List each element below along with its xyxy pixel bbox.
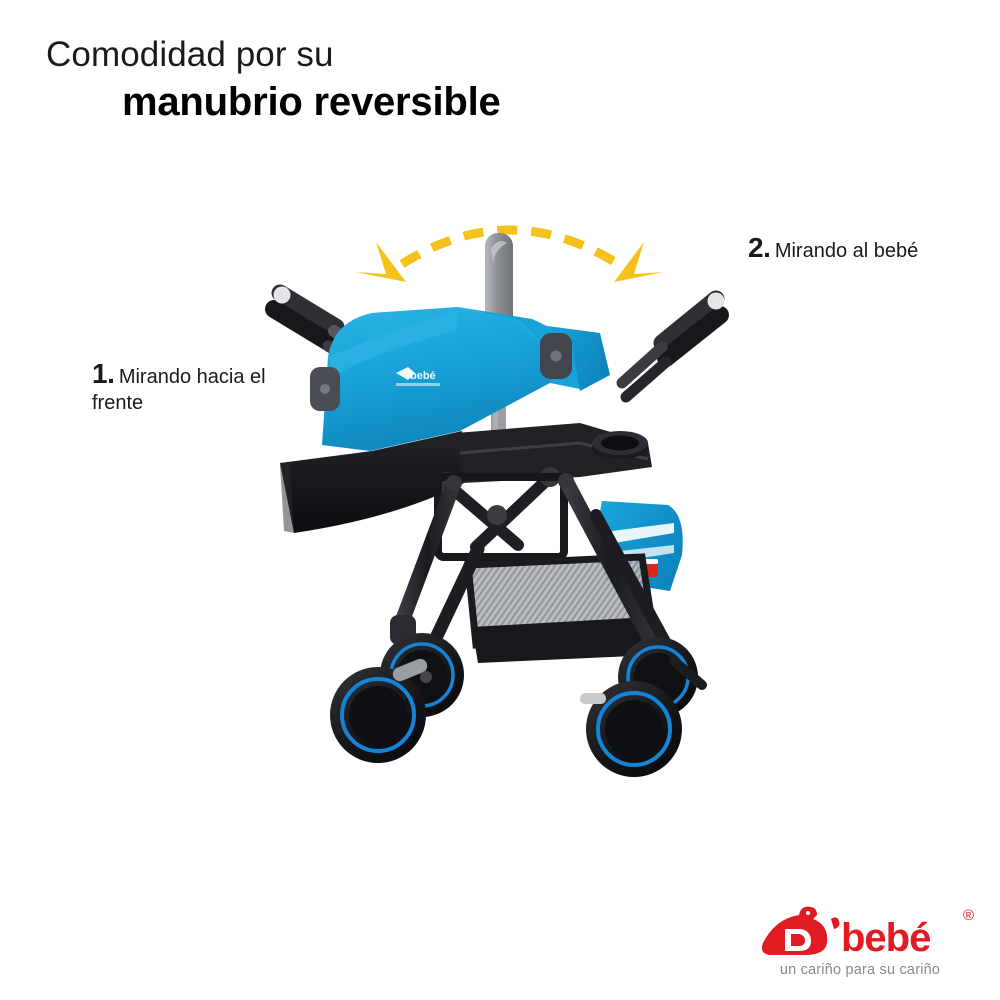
brand-logo: bebé ® un cariño para su cariño xyxy=(744,903,976,978)
canopy-hinge-right xyxy=(540,333,572,379)
page-title: Comodidad por su manubrio reversible xyxy=(46,34,666,126)
callout-1-text: Mirando hacia el frente xyxy=(92,366,266,414)
stroller-product-image: bebé xyxy=(250,215,770,795)
callout-1-number: 1. xyxy=(92,358,114,389)
svg-text:bebé: bebé xyxy=(841,916,930,960)
canopy-logo: bebé xyxy=(396,367,440,386)
svg-text:bebé: bebé xyxy=(410,370,436,382)
right-handle xyxy=(622,293,725,398)
title-line-1: Comodidad por su xyxy=(46,34,666,75)
canopy-hinge-left xyxy=(310,367,340,411)
front-wheels xyxy=(330,633,464,763)
callout-2-text: Mirando al bebé xyxy=(775,240,918,262)
registered-trademark-icon: ® xyxy=(963,907,974,924)
brand-logo-mark: bebé ® xyxy=(744,903,976,961)
title-line-2: manubrio reversible xyxy=(122,79,666,126)
infographic-canvas: Comodidad por su manubrio reversible 1. … xyxy=(0,0,1000,1000)
rear-wheels xyxy=(580,637,702,777)
callout-label-2: 2. Mirando al bebé xyxy=(748,232,998,264)
cup-holder xyxy=(592,431,648,459)
brand-tagline: un cariño para su cariño xyxy=(744,962,976,978)
